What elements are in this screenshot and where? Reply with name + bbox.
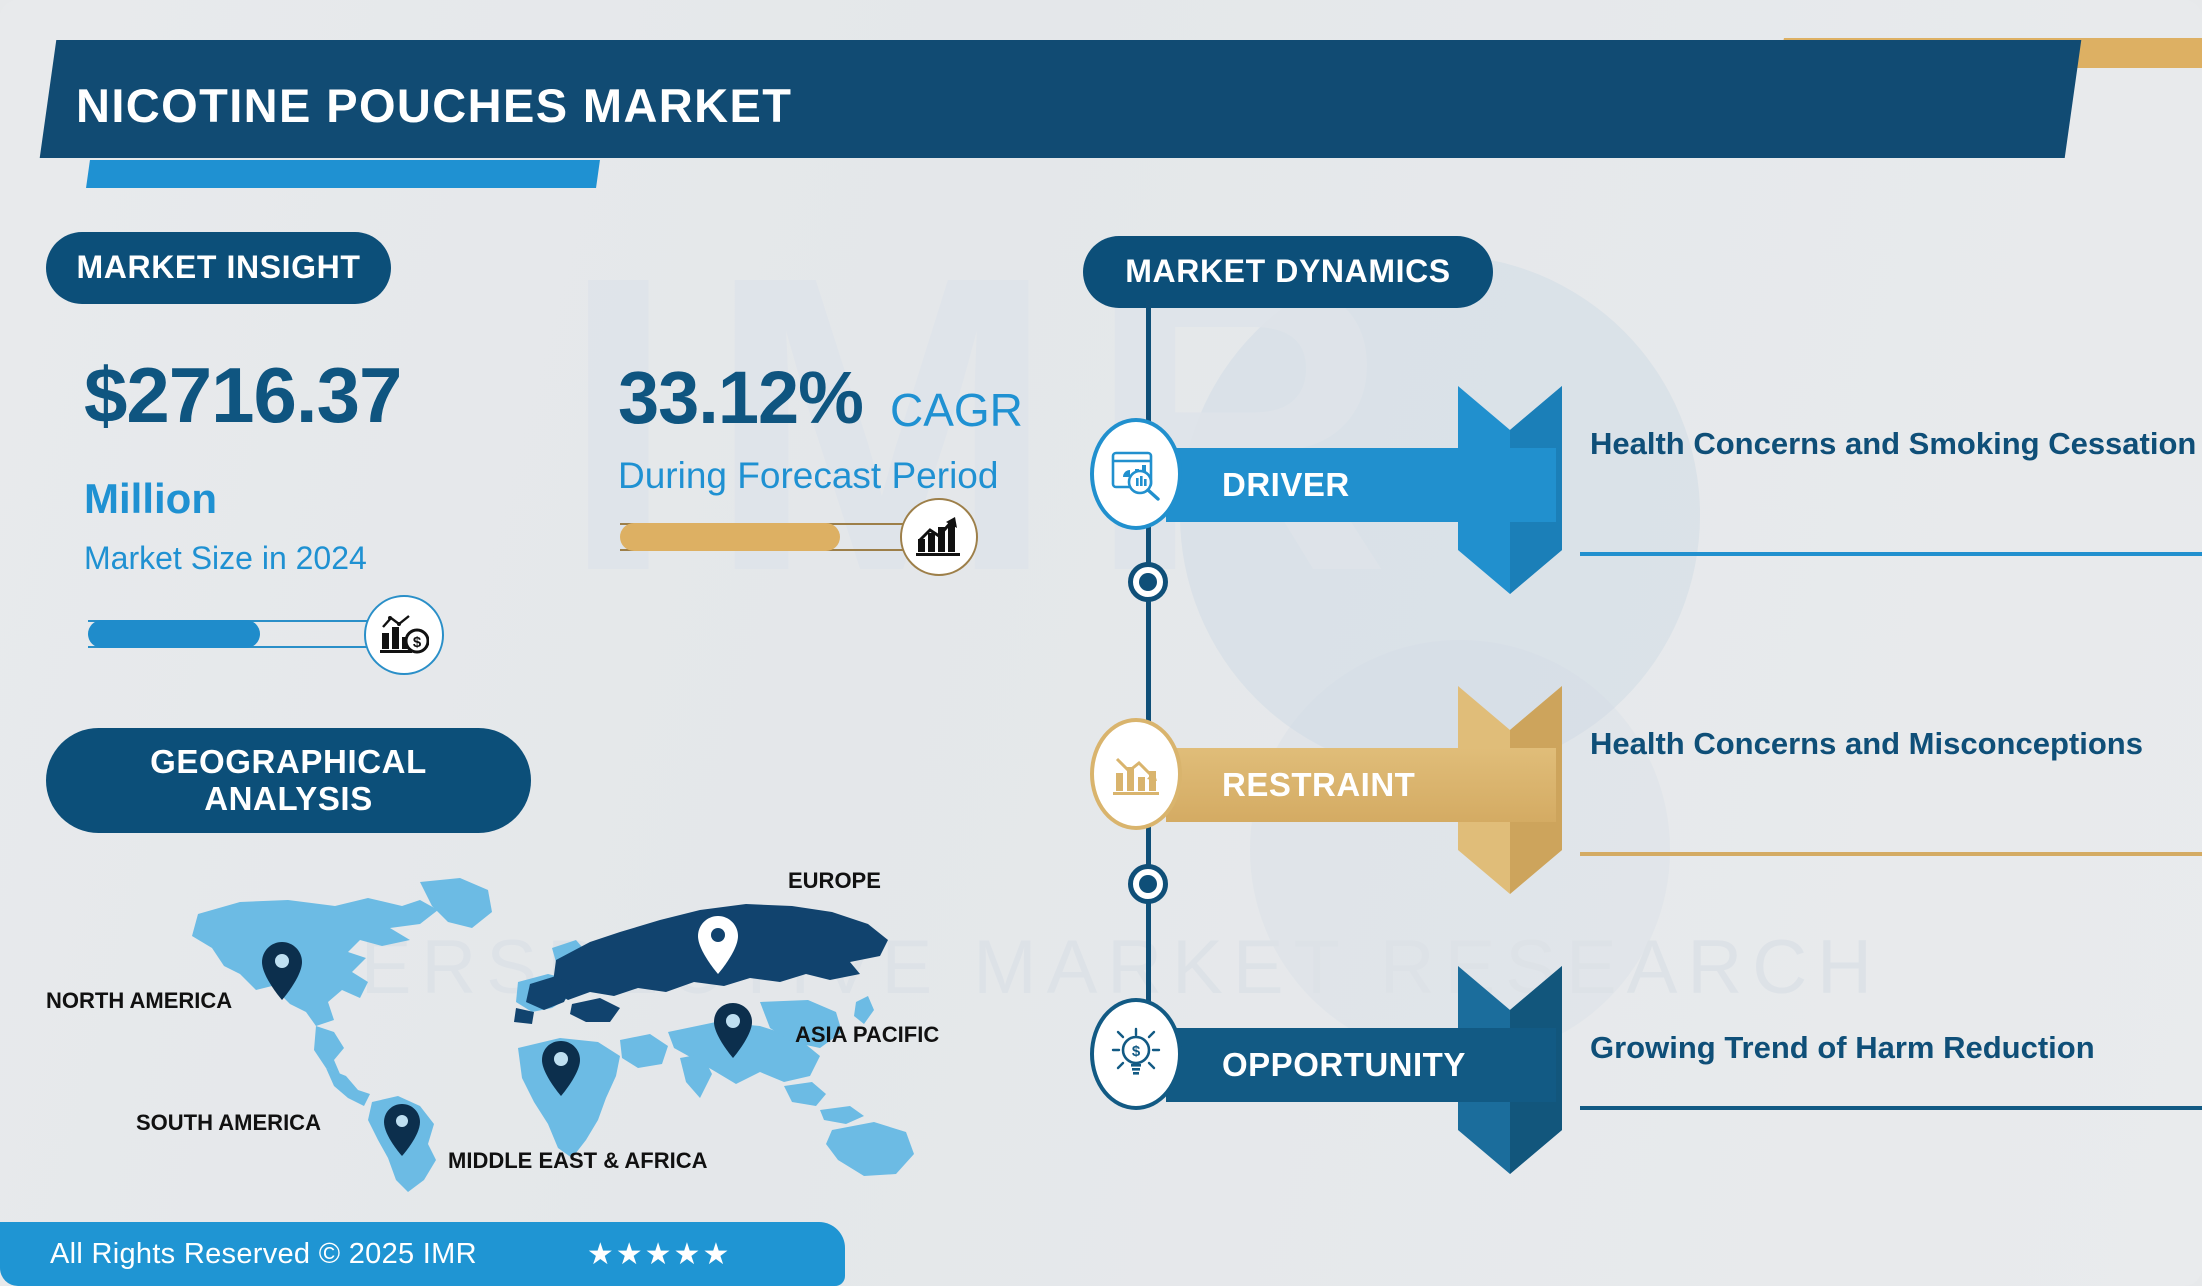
geographical-analysis-pill: GEOGRAPHICAL ANALYSIS xyxy=(46,728,531,833)
page-title: NICOTINE POUCHES MARKET xyxy=(76,78,792,133)
market-dynamics-pill: MARKET DYNAMICS xyxy=(1083,236,1493,308)
driver-underline xyxy=(1580,552,2202,556)
infographic-page: IMR PERSPECTIVE MARKET RESEARCH NICOTINE… xyxy=(0,0,2202,1286)
cagr-value: 33.12% xyxy=(618,355,863,440)
cagr-label: CAGR xyxy=(890,383,1023,437)
restraint-text: Health Concerns and Misconceptions xyxy=(1590,724,2202,764)
svg-text:$: $ xyxy=(413,634,422,651)
footer-copyright: All Rights Reserved © 2025 IMR xyxy=(50,1238,477,1271)
opportunity-underline xyxy=(1580,1106,2202,1110)
cagr-progress-fill xyxy=(620,523,840,551)
svg-text:$: $ xyxy=(1132,1043,1141,1060)
dynamics-row-driver: DRIVER Health Concerns and Smoking Cessa… xyxy=(1090,400,2180,580)
growth-arrow-icon xyxy=(900,498,978,576)
region-label-middle-east-africa: MIDDLE EAST & AFRICA xyxy=(448,1148,708,1174)
market-insight-pill: MARKET INSIGHT xyxy=(46,232,391,304)
market-size-value: $2716.37 xyxy=(84,350,401,441)
driver-text: Health Concerns and Smoking Cessation xyxy=(1590,424,2202,464)
declining-chart-icon xyxy=(1090,718,1182,830)
opportunity-label: OPPORTUNITY xyxy=(1222,1046,1466,1084)
market-size-progress-fill xyxy=(88,620,260,648)
restraint-underline xyxy=(1580,852,2202,856)
footer-bar: All Rights Reserved © 2025 IMR ★★★★★ xyxy=(0,1222,845,1286)
opportunity-text: Growing Trend of Harm Reduction xyxy=(1590,1028,2202,1068)
lightbulb-dollar-icon: $ xyxy=(1090,998,1182,1110)
analytics-search-icon xyxy=(1090,418,1182,530)
region-label-europe: EUROPE xyxy=(788,868,881,894)
geo-pill-line2: ANALYSIS xyxy=(204,781,373,818)
restraint-label: RESTRAINT xyxy=(1222,766,1415,804)
dynamics-row-restraint: RESTRAINT Health Concerns and Misconcept… xyxy=(1090,700,2180,880)
header-blue-accent xyxy=(86,160,600,188)
region-label-north-america: NORTH AMERICA xyxy=(46,988,232,1014)
market-size-caption: Market Size in 2024 xyxy=(84,540,367,577)
region-label-asia-pacific: ASIA PACIFIC xyxy=(795,1022,939,1048)
dynamics-row-opportunity: $ OPPORTUNITY Growing Trend of Harm Redu… xyxy=(1090,980,2180,1160)
cagr-caption: During Forecast Period xyxy=(618,455,998,497)
bar-chart-dollar-icon: $ xyxy=(364,595,444,675)
footer-stars-icon: ★★★★★ xyxy=(587,1237,731,1272)
market-size-unit: Million xyxy=(84,475,217,523)
region-label-south-america: SOUTH AMERICA xyxy=(136,1110,321,1136)
driver-label: DRIVER xyxy=(1222,466,1350,504)
geo-pill-line1: GEOGRAPHICAL xyxy=(150,744,427,781)
